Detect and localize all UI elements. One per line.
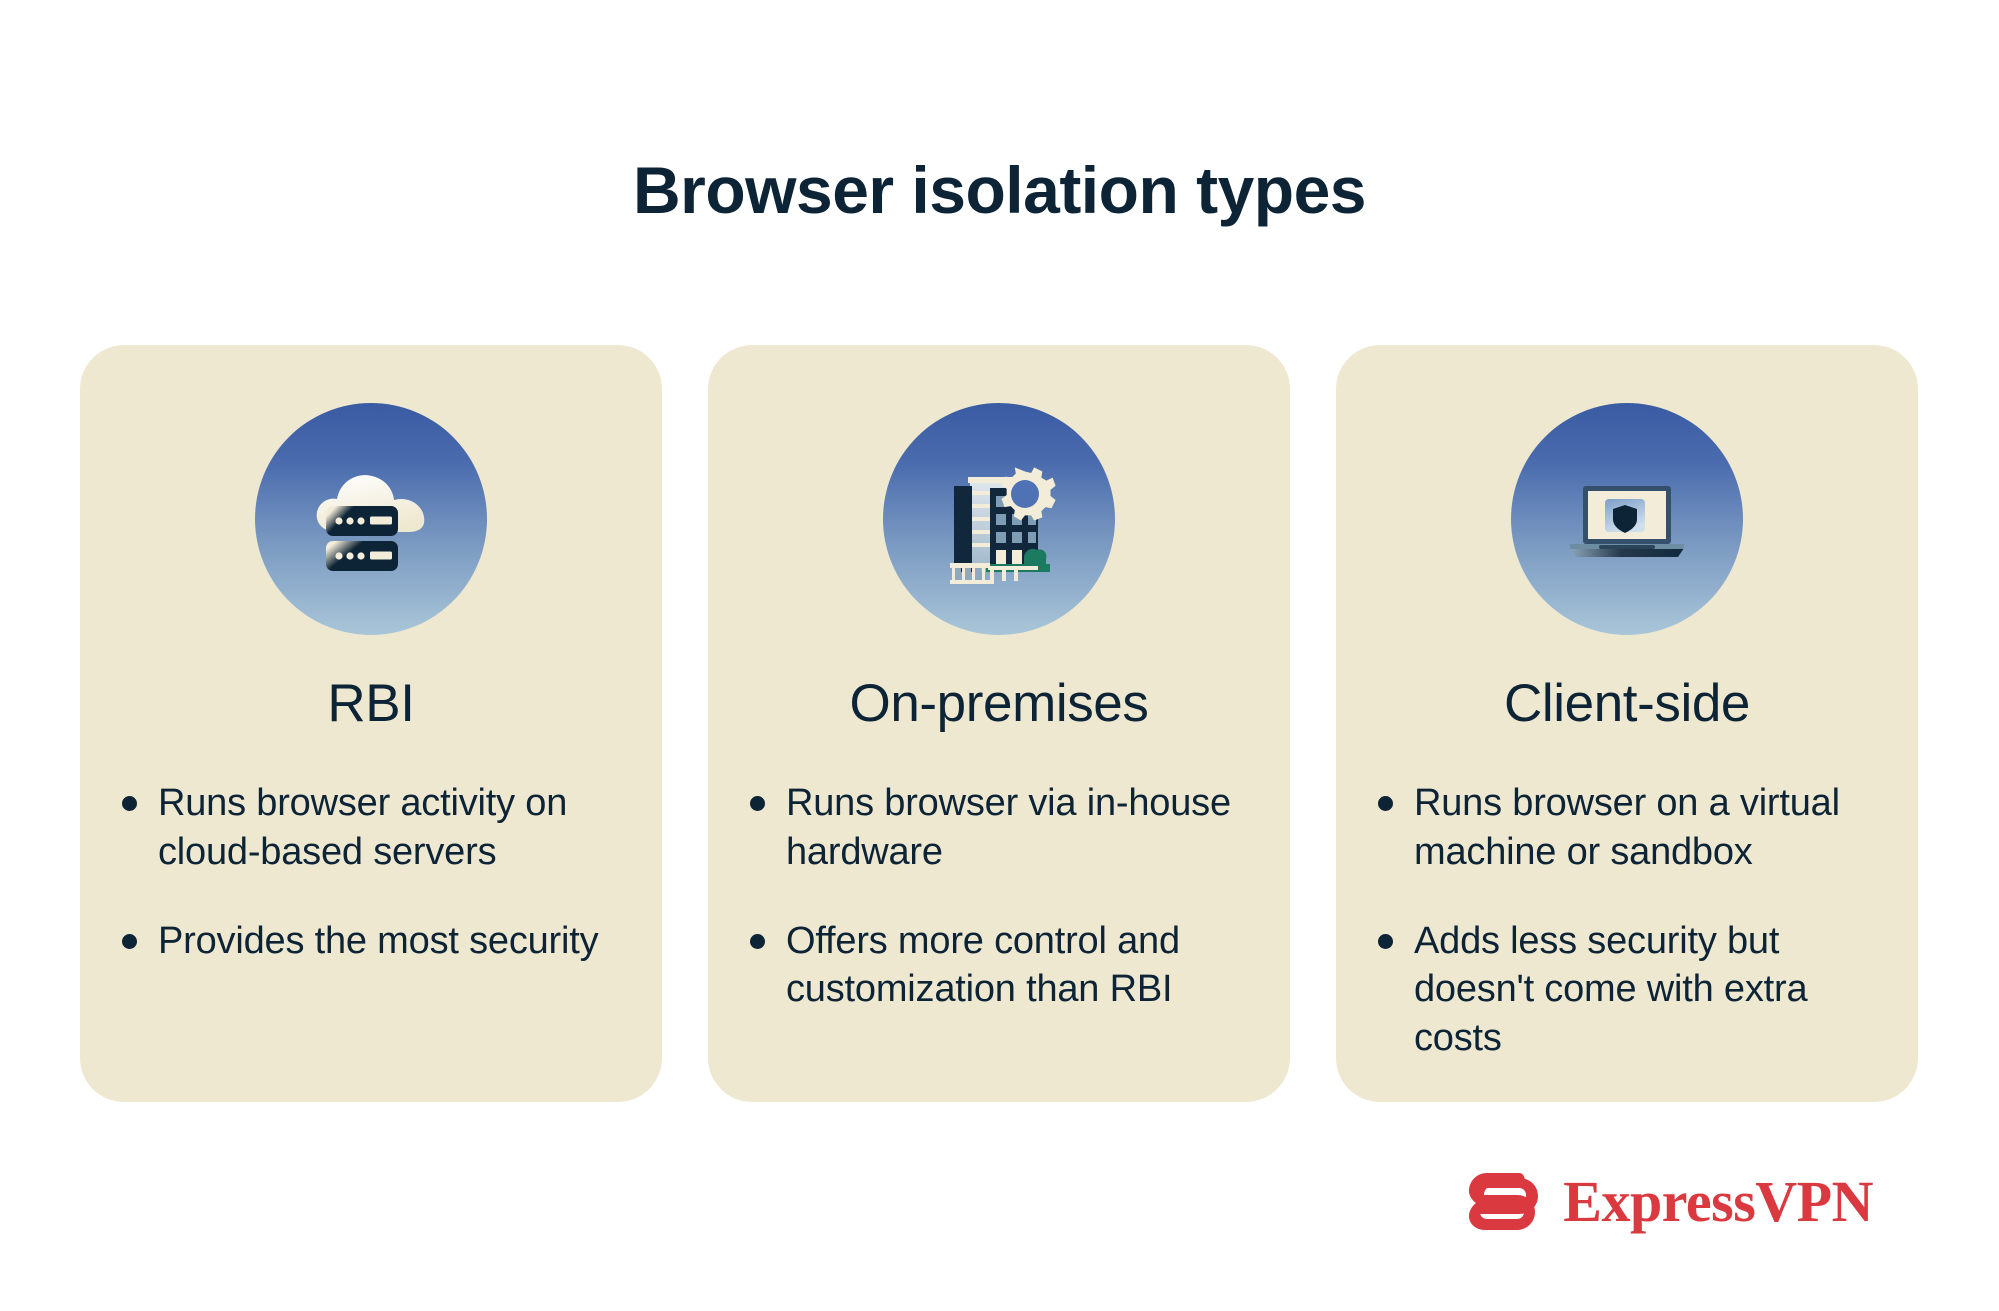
expressvpn-wordmark: ExpressVPN	[1563, 1173, 1873, 1231]
bullet-dot-icon	[1378, 796, 1393, 811]
bullet-dot-icon	[122, 934, 137, 949]
bullet-text: Adds less security but doesn't come with…	[1414, 917, 1876, 1063]
list-item: Adds less security but doesn't come with…	[1378, 917, 1876, 1063]
building-gear-icon	[883, 403, 1115, 635]
bullet-dot-icon	[750, 934, 765, 949]
list-item: Provides the most security	[122, 917, 620, 966]
bullet-list-client-side: Runs browser on a virtual machine or san…	[1378, 779, 1876, 1062]
bullet-text: Runs browser via in-house hardware	[786, 779, 1248, 876]
page-title: Browser isolation types	[0, 154, 1999, 227]
cards-row: RBI Runs browser activity on cloud-based…	[80, 345, 1920, 1102]
card-title-client-side: Client-side	[1504, 675, 1750, 733]
list-item: Runs browser on a virtual machine or san…	[1378, 779, 1876, 876]
expressvpn-logo: ExpressVPN	[1467, 1160, 1873, 1243]
expressvpn-e-mark-icon	[1467, 1160, 1545, 1243]
bullet-list-on-premises: Runs browser via in-house hardware Offer…	[750, 779, 1248, 1014]
bullet-dot-icon	[750, 796, 765, 811]
card-rbi: RBI Runs browser activity on cloud-based…	[80, 345, 662, 1102]
card-title-rbi: RBI	[327, 675, 414, 733]
list-item: Runs browser via in-house hardware	[750, 779, 1248, 876]
list-item: Offers more control and customization th…	[750, 917, 1248, 1014]
bullet-dot-icon	[122, 796, 137, 811]
bullet-text: Offers more control and customization th…	[786, 917, 1248, 1014]
bullet-text: Provides the most security	[158, 917, 598, 966]
bullet-list-rbi: Runs browser activity on cloud-based ser…	[122, 779, 620, 965]
card-client-side: Client-side Runs browser on a virtual ma…	[1336, 345, 1918, 1102]
card-on-premises: On-premises Runs browser via in-house ha…	[708, 345, 1290, 1102]
laptop-shield-icon	[1511, 403, 1743, 635]
cloud-server-icon	[255, 403, 487, 635]
bullet-text: Runs browser on a virtual machine or san…	[1414, 779, 1876, 876]
bullet-text: Runs browser activity on cloud-based ser…	[158, 779, 620, 876]
bullet-dot-icon	[1378, 934, 1393, 949]
card-title-on-premises: On-premises	[850, 675, 1149, 733]
list-item: Runs browser activity on cloud-based ser…	[122, 779, 620, 876]
infographic-page: Browser isolation types	[0, 0, 1999, 1311]
